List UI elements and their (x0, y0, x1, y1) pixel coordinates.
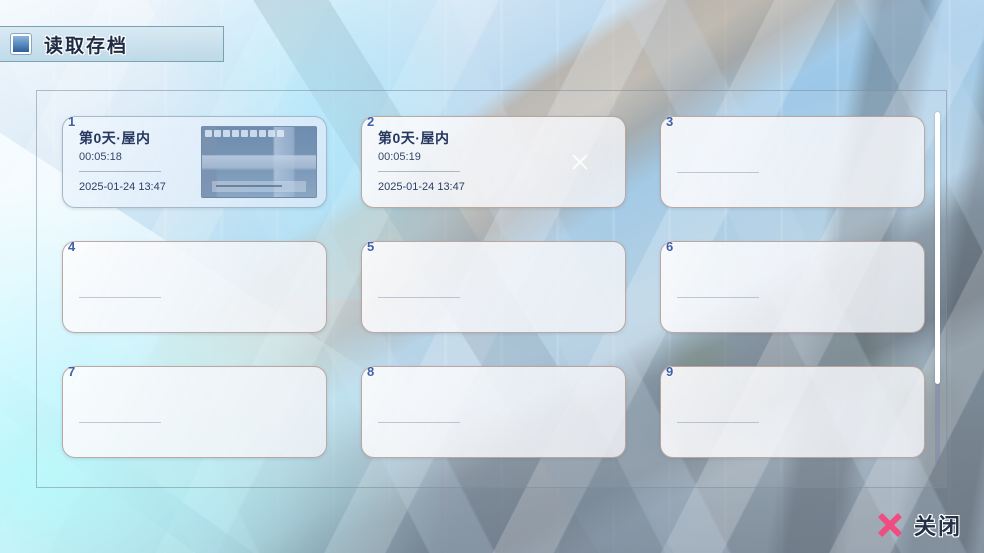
thumbnail-hud-icon (277, 130, 284, 137)
empty-slot-divider (677, 172, 759, 173)
save-slot-divider (79, 171, 161, 172)
empty-slot-divider (677, 297, 759, 298)
save-slot[interactable]: 3 (660, 116, 925, 208)
save-slot-number: 7 (68, 364, 75, 379)
thumbnail-hud-icon (268, 130, 275, 137)
save-slot[interactable]: 7 (62, 366, 327, 458)
save-slot-number: 3 (666, 114, 673, 129)
save-slot[interactable]: 4 (62, 241, 327, 333)
save-slot-info: 第0天·屋内00:05:192025-01-24 13:47 (378, 130, 528, 194)
thumbnail-hud-icon (259, 130, 266, 137)
thumbnail-textbox (212, 181, 306, 192)
empty-slot-divider (378, 297, 460, 298)
save-slot-number: 1 (68, 114, 75, 129)
save-slot-divider (378, 171, 460, 172)
thumbnail-hud-icon (250, 130, 257, 137)
save-slot-number: 6 (666, 239, 673, 254)
page-title: 读取存档 (44, 31, 128, 58)
thumbnail-hud-icon (223, 130, 230, 137)
window-titlebar: 读取存档 (0, 26, 224, 62)
thumbnail-hud-icon (232, 130, 239, 137)
empty-slot-divider (677, 422, 759, 423)
thumbnail-hud-icon (205, 130, 212, 137)
save-slot-number: 5 (367, 239, 374, 254)
empty-slot-divider (79, 422, 161, 423)
close-x-icon (877, 512, 903, 538)
close-button-label: 关闭 (914, 509, 962, 541)
save-slot-playtime: 00:05:19 (378, 150, 528, 164)
save-slot-number: 2 (367, 114, 374, 129)
save-slot-thumbnail (201, 126, 317, 198)
picture-icon (11, 34, 31, 54)
vertical-scrollbar[interactable] (935, 112, 940, 464)
thumbnail-hud-icon (241, 130, 248, 137)
save-slot[interactable]: 9 (660, 366, 925, 458)
save-slot-title: 第0天·屋内 (378, 130, 528, 147)
save-slot-timestamp: 2025-01-24 13:47 (378, 180, 528, 194)
save-slot-number: 9 (666, 364, 673, 379)
save-slot[interactable]: 1第0天·屋内00:05:182025-01-24 13:47 (62, 116, 327, 208)
save-slot-panel: 1第0天·屋内00:05:182025-01-24 13:472第0天·屋内00… (36, 90, 947, 488)
scrollbar-thumb[interactable] (935, 112, 940, 384)
save-slot-number: 8 (367, 364, 374, 379)
empty-slot-divider (79, 297, 161, 298)
save-slot-grid: 1第0天·屋内00:05:182025-01-24 13:472第0天·屋内00… (62, 116, 935, 458)
thumbnail-hud-icon (214, 130, 221, 137)
save-slot[interactable]: 2第0天·屋内00:05:192025-01-24 13:47 (361, 116, 626, 208)
thumbnail-hud-icons (205, 130, 284, 137)
save-slot[interactable]: 6 (660, 241, 925, 333)
empty-slot-divider (378, 422, 460, 423)
close-button[interactable]: 关闭 (877, 509, 962, 541)
save-slot-number: 4 (68, 239, 75, 254)
delete-save-icon[interactable] (569, 151, 591, 173)
save-slot[interactable]: 8 (361, 366, 626, 458)
save-load-screen: 读取存档 1第0天·屋内00:05:182025-01-24 13:472第0天… (0, 0, 984, 553)
save-slot[interactable]: 5 (361, 241, 626, 333)
